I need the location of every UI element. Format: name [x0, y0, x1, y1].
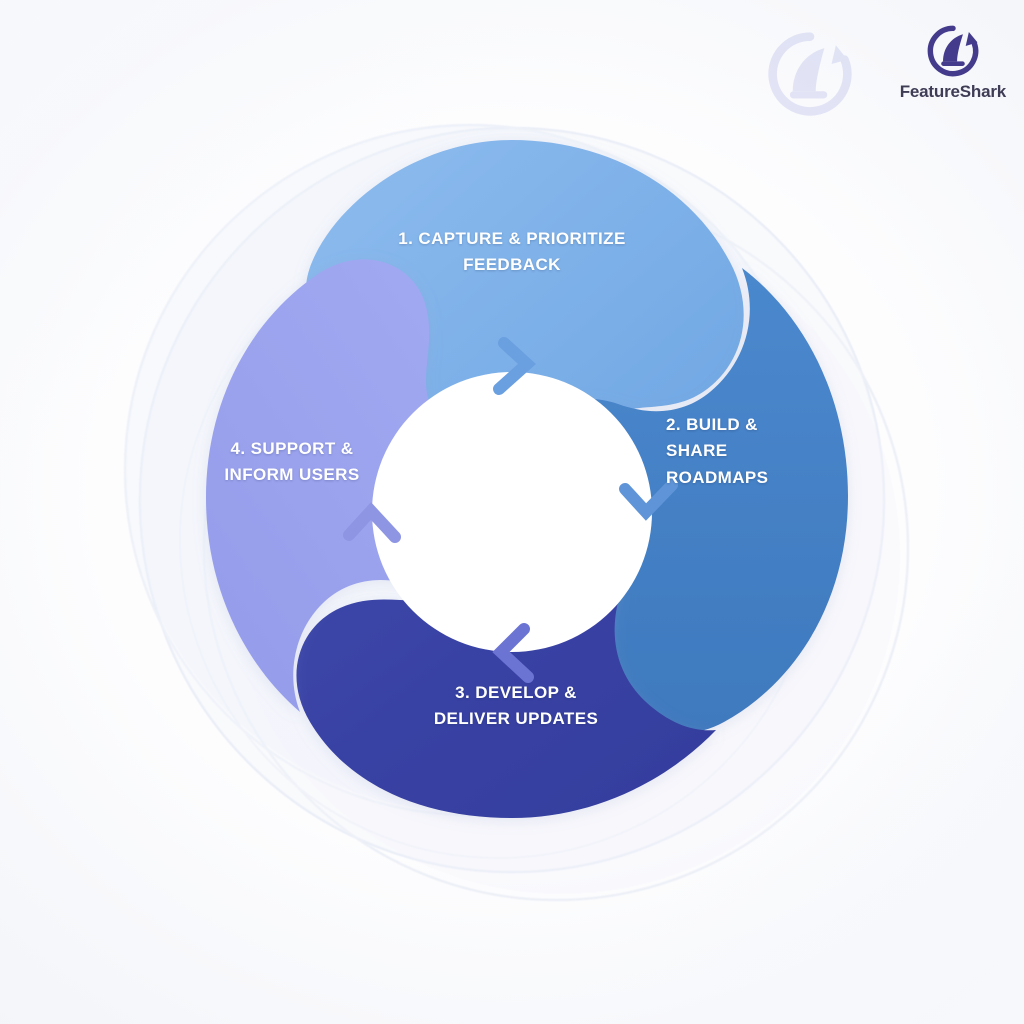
diagram-canvas: 1. CAPTURE & PRIORITIZE FEEDBACK 2. BUIL… [0, 0, 1024, 1024]
brand-wordmark: FeatureShark [900, 82, 1006, 102]
cycle-diagram [0, 0, 1024, 1024]
circular-arrow-shark-fin-icon [924, 22, 982, 80]
ghost-logo-watermark-icon [764, 28, 856, 120]
brand-logo[interactable]: FeatureShark [900, 22, 1006, 102]
center-hub [372, 372, 652, 652]
